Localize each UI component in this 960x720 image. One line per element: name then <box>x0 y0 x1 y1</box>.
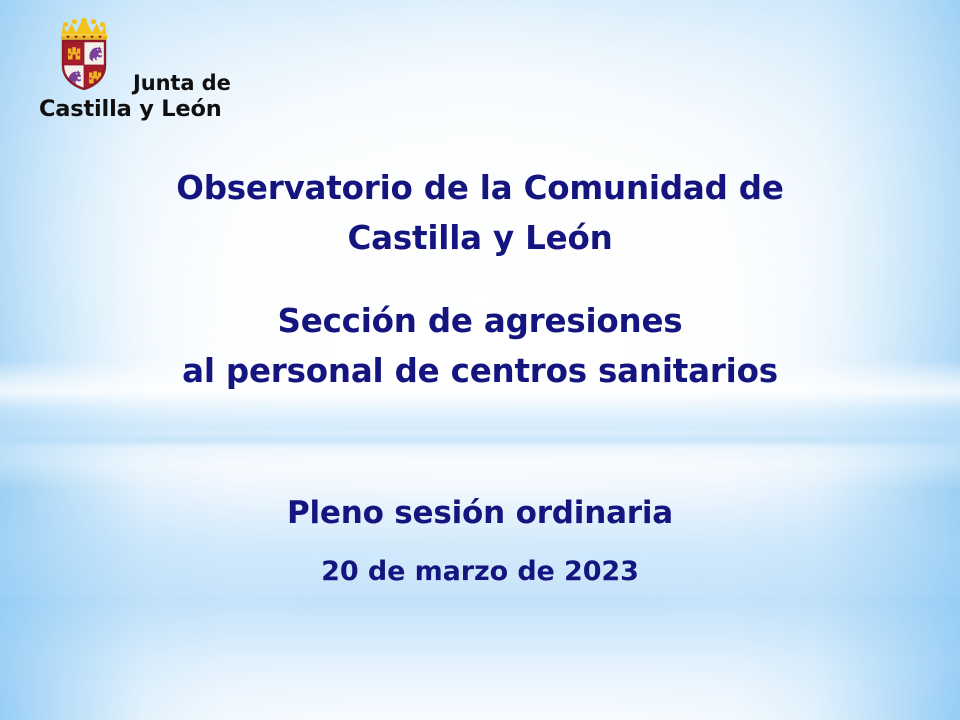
slide-text-content: Observatorio de la Comunidad de Castilla… <box>0 0 960 720</box>
slide-subtitle-line-2: al personal de centros sanitarios <box>0 355 960 388</box>
presentation-slide: Junta de Castilla y León Observatorio de… <box>0 0 960 720</box>
slide-event-label: Pleno sesión ordinaria <box>0 498 960 529</box>
slide-date: 20 de marzo de 2023 <box>0 558 960 585</box>
slide-title-line-2: Castilla y León <box>0 222 960 255</box>
slide-subtitle-line-1: Sección de agresiones <box>0 305 960 338</box>
slide-title-line-1: Observatorio de la Comunidad de <box>0 172 960 205</box>
